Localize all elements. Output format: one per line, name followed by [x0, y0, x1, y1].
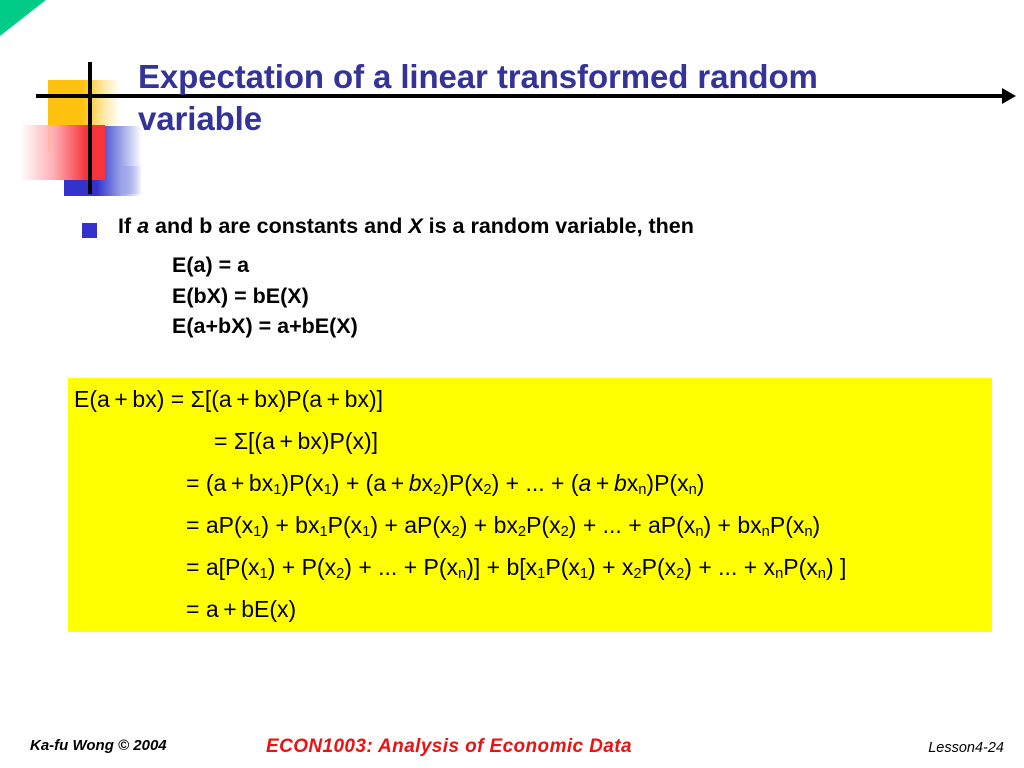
- derivation-line-1: E(a + bx) = Σ[(a + bx)P(a + bx)]: [74, 388, 383, 411]
- bullet-item: If a and b are constants and X is a rand…: [82, 216, 982, 238]
- equation-list: E(a) = a E(bX) = bE(X) E(a+bX) = a+bE(X): [172, 250, 358, 342]
- footer-lesson-number: Lesson4-24: [928, 740, 1004, 756]
- derivation-line-6: = a + bE(x): [186, 598, 296, 621]
- derivation-line-3: = (a + bx1)P(x1) + (a + bx2)P(x2) + ... …: [186, 472, 704, 498]
- bullet-text-italic-a: a: [137, 214, 149, 238]
- bullet-text-italic-x: X: [408, 214, 422, 238]
- derivation-highlight-box: E(a + bx) = Σ[(a + bx)P(a + bx)] = Σ[(a …: [68, 378, 992, 632]
- corner-triangle-decoration: [0, 0, 46, 36]
- bullet-text-part2: and b are constants and: [149, 214, 408, 238]
- equation-line-1: E(a) = a: [172, 250, 358, 281]
- page-title: Expectation of a linear transformed rand…: [138, 56, 928, 140]
- bullet-square-icon: [82, 223, 97, 238]
- bullet-text-part1: If: [118, 214, 137, 238]
- bullet-item-label: If a and b are constants and X is a rand…: [118, 216, 694, 238]
- derivation-line-4: = aP(x1) + bx1P(x1) + aP(x2) + bx2P(x2) …: [186, 514, 820, 540]
- equation-line-3: E(a+bX) = a+bE(X): [172, 311, 358, 342]
- equation-line-2: E(bX) = bE(X): [172, 281, 358, 312]
- footer-course-title: ECON1003: Analysis of Economic Data: [266, 736, 632, 758]
- arrow-head-icon: [1002, 88, 1016, 104]
- bullet-text-part3: is a random variable, then: [423, 214, 694, 238]
- footer-author: Ka-fu Wong © 2004: [30, 737, 167, 754]
- vertical-axis-line: [88, 62, 92, 194]
- logo-block-red: [20, 125, 105, 180]
- derivation-line-5: = a[P(x1) + P(x2) + ... + P(xn)] + b[x1P…: [186, 556, 846, 582]
- derivation-line-2: = Σ[(a + bx)P(x)]: [214, 430, 378, 453]
